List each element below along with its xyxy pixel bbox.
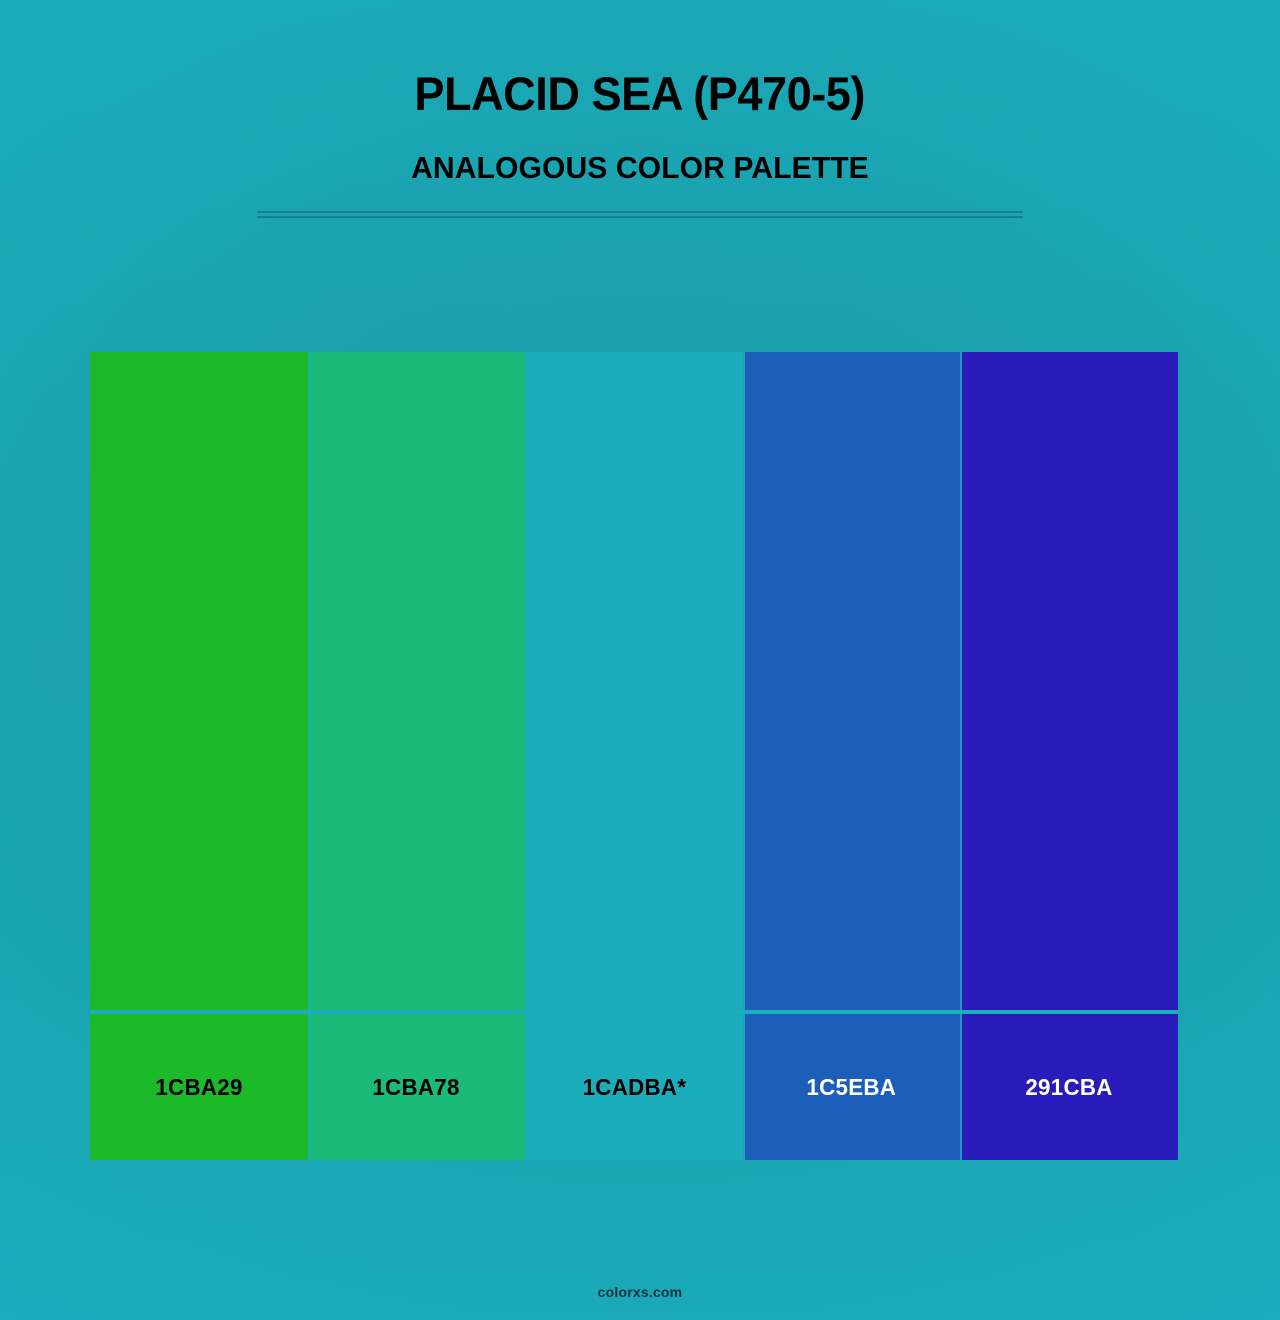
color-hex-label-3: 1CADBA*	[582, 1074, 686, 1101]
color-chip-4[interactable]	[743, 352, 961, 1010]
color-chip-3[interactable]	[525, 352, 743, 1010]
color-hex-label-2: 1CBA78	[373, 1074, 460, 1101]
title-divider	[257, 211, 1023, 218]
color-palette-poster: PLACID SEA (P470-5) ANALOGOUS COLOR PALE…	[0, 0, 1280, 1320]
palette-swatch-grid: 1CBA29 1CBA78 1CADBA* 1C5EBA	[90, 352, 1178, 1160]
page-title: PLACID SEA (P470-5)	[415, 68, 866, 121]
color-chip-2[interactable]	[308, 352, 526, 1010]
color-chip-5[interactable]	[960, 352, 1178, 1010]
swatch-column-4[interactable]: 1C5EBA	[743, 352, 961, 1160]
color-label-cell-4[interactable]: 1C5EBA	[743, 1014, 961, 1160]
palette-subtitle: ANALOGOUS COLOR PALETTE	[411, 150, 869, 186]
poster-header: PLACID SEA (P470-5) ANALOGOUS COLOR PALE…	[0, 0, 1280, 218]
color-label-cell-1[interactable]: 1CBA29	[90, 1014, 308, 1160]
color-label-cell-3[interactable]: 1CADBA*	[525, 1014, 743, 1160]
color-hex-label-5: 291CBA	[1026, 1074, 1113, 1101]
color-hex-label-1: 1CBA29	[155, 1074, 242, 1101]
site-watermark: colorxs.com	[0, 1284, 1280, 1300]
color-chip-1[interactable]	[90, 352, 308, 1010]
swatch-column-1[interactable]: 1CBA29	[90, 352, 308, 1160]
swatch-column-2[interactable]: 1CBA78	[308, 352, 526, 1160]
swatch-column-3[interactable]: 1CADBA*	[525, 352, 743, 1160]
color-hex-label-4: 1C5EBA	[807, 1074, 897, 1101]
color-label-cell-5[interactable]: 291CBA	[960, 1014, 1178, 1160]
color-label-cell-2[interactable]: 1CBA78	[308, 1014, 526, 1160]
swatch-column-5[interactable]: 291CBA	[960, 352, 1178, 1160]
